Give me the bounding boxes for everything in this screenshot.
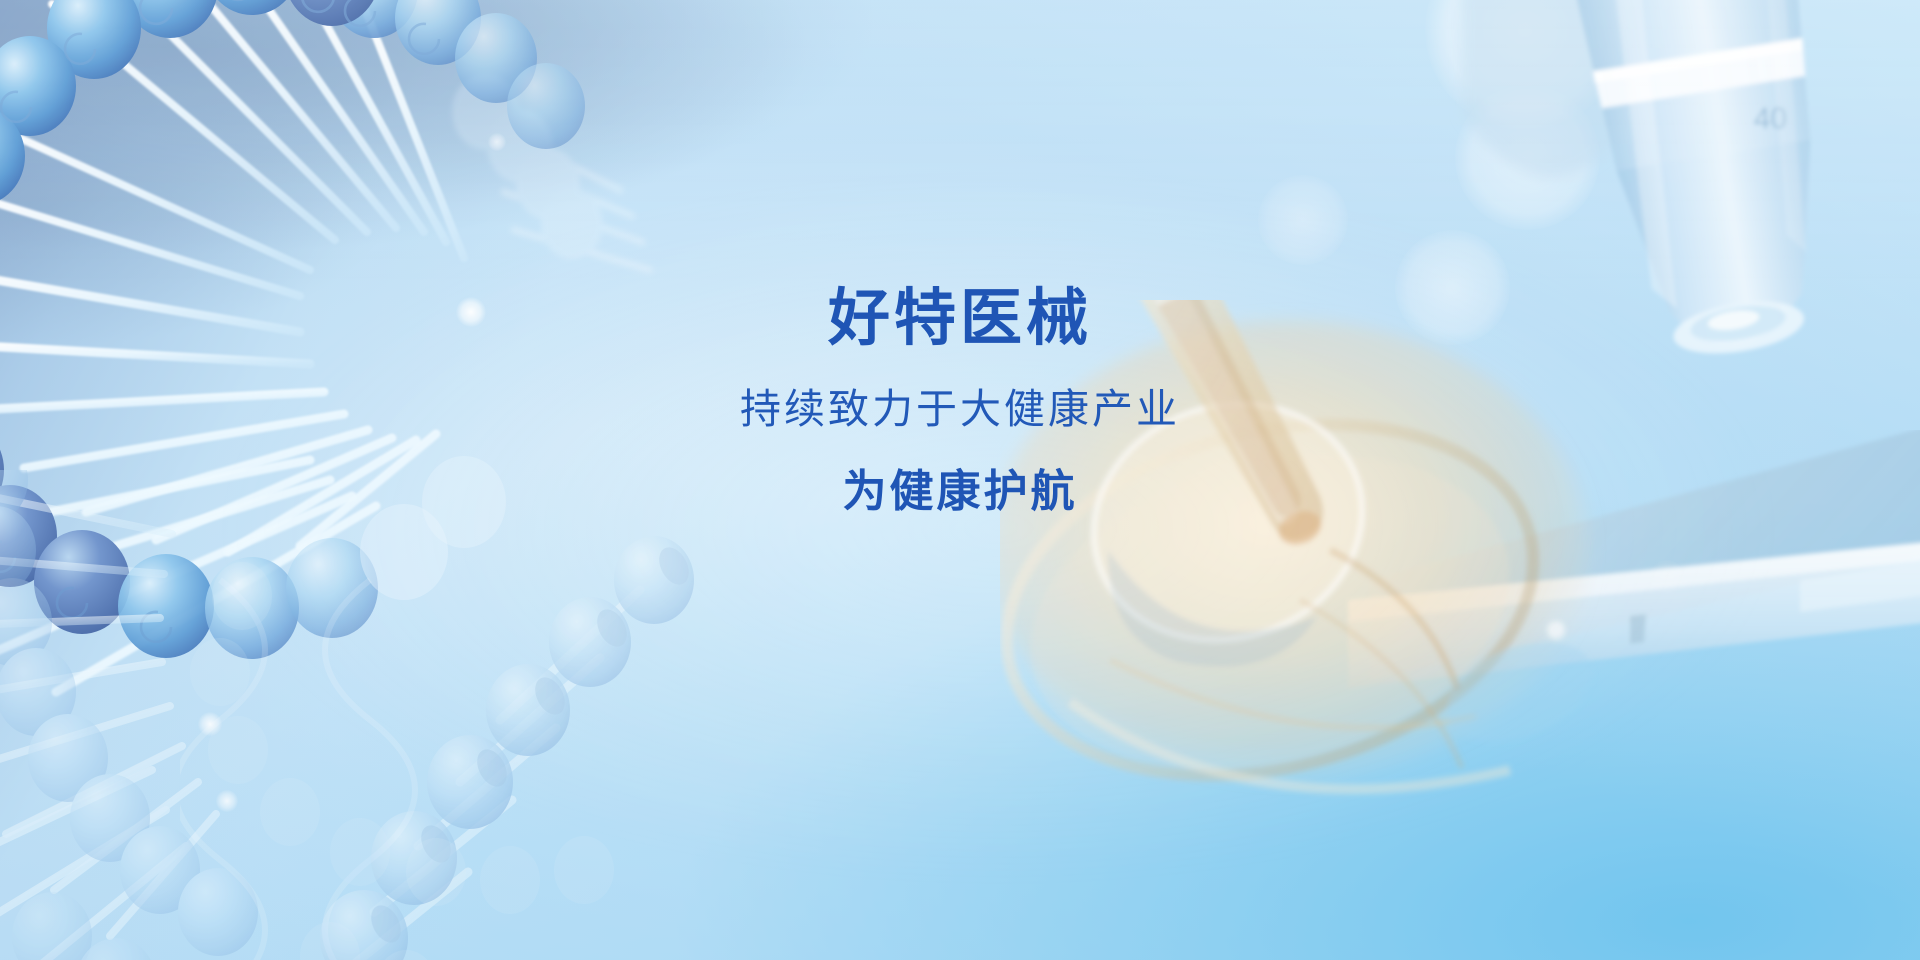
company-slogan: 为健康护航 xyxy=(0,466,1920,519)
hero-banner: 40 xyxy=(0,0,1920,960)
dna-helix-ghost-icon xyxy=(180,560,800,960)
company-title: 好特医械 xyxy=(0,282,1920,355)
company-subtitle: 持续致力于大健康产业 xyxy=(0,385,1920,434)
hero-headline: 好特医械 持续致力于大健康产业 为健康护航 xyxy=(0,282,1920,519)
bokeh-circle xyxy=(1258,175,1348,265)
